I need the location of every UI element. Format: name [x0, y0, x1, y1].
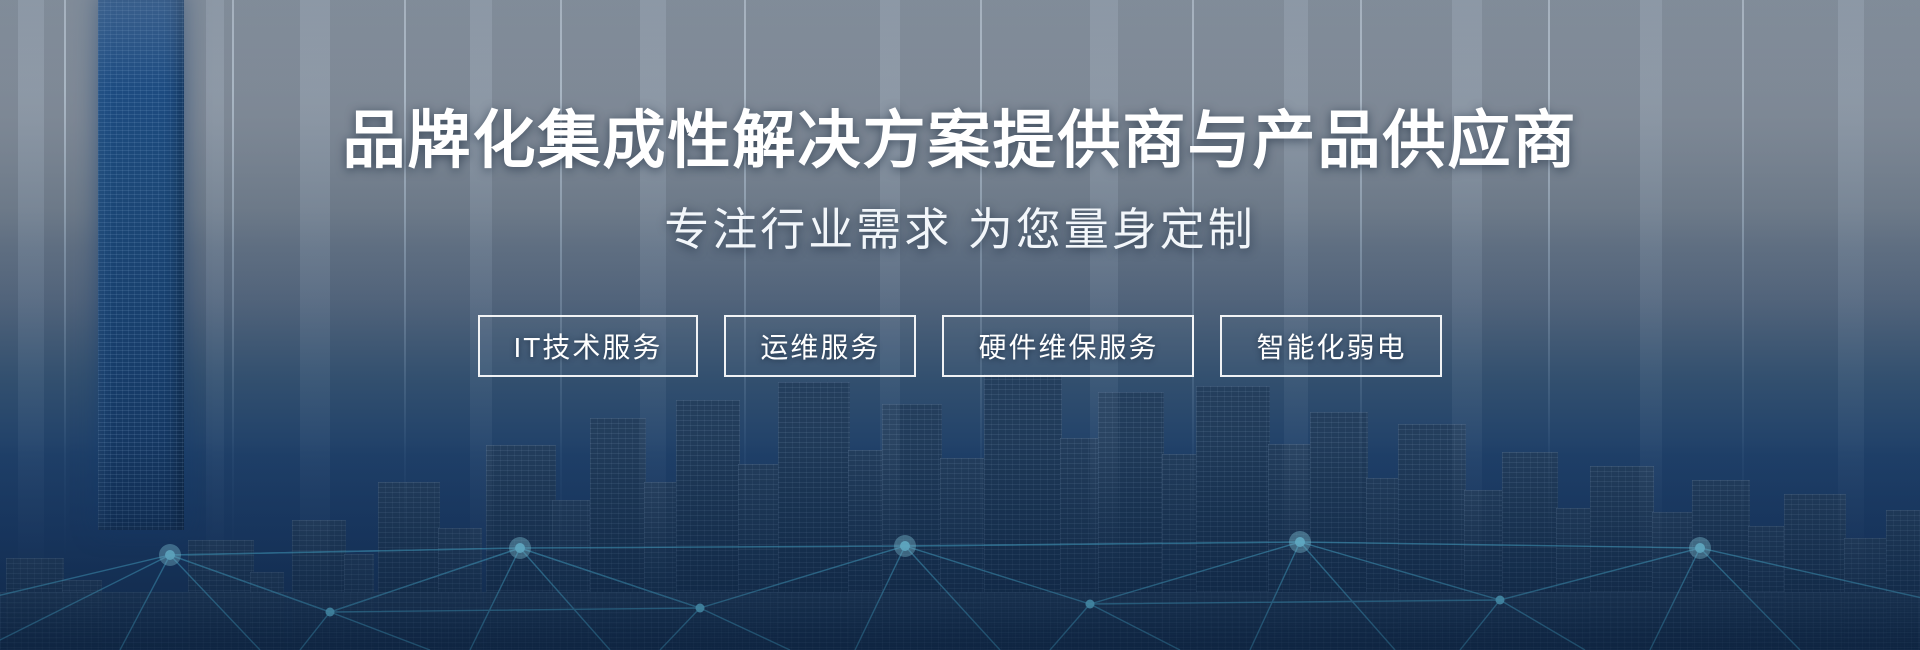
banner-headline: 品牌化集成性解决方案提供商与产品供应商 [343, 110, 1578, 173]
hero-banner: 品牌化集成性解决方案提供商与产品供应商 专注行业需求 为您量身定制 IT技术服务… [0, 0, 1920, 650]
banner-content: 品牌化集成性解决方案提供商与产品供应商 专注行业需求 为您量身定制 IT技术服务… [0, 0, 1920, 650]
service-button-it[interactable]: IT技术服务 [478, 315, 699, 377]
service-button-group: IT技术服务 运维服务 硬件维保服务 智能化弱电 [478, 315, 1443, 377]
service-button-intelligent-lowvoltage[interactable]: 智能化弱电 [1220, 315, 1442, 377]
service-button-operations[interactable]: 运维服务 [724, 315, 916, 377]
service-button-hardware-maintenance[interactable]: 硬件维保服务 [942, 315, 1194, 377]
banner-subtitle: 专注行业需求 为您量身定制 [664, 207, 1256, 252]
